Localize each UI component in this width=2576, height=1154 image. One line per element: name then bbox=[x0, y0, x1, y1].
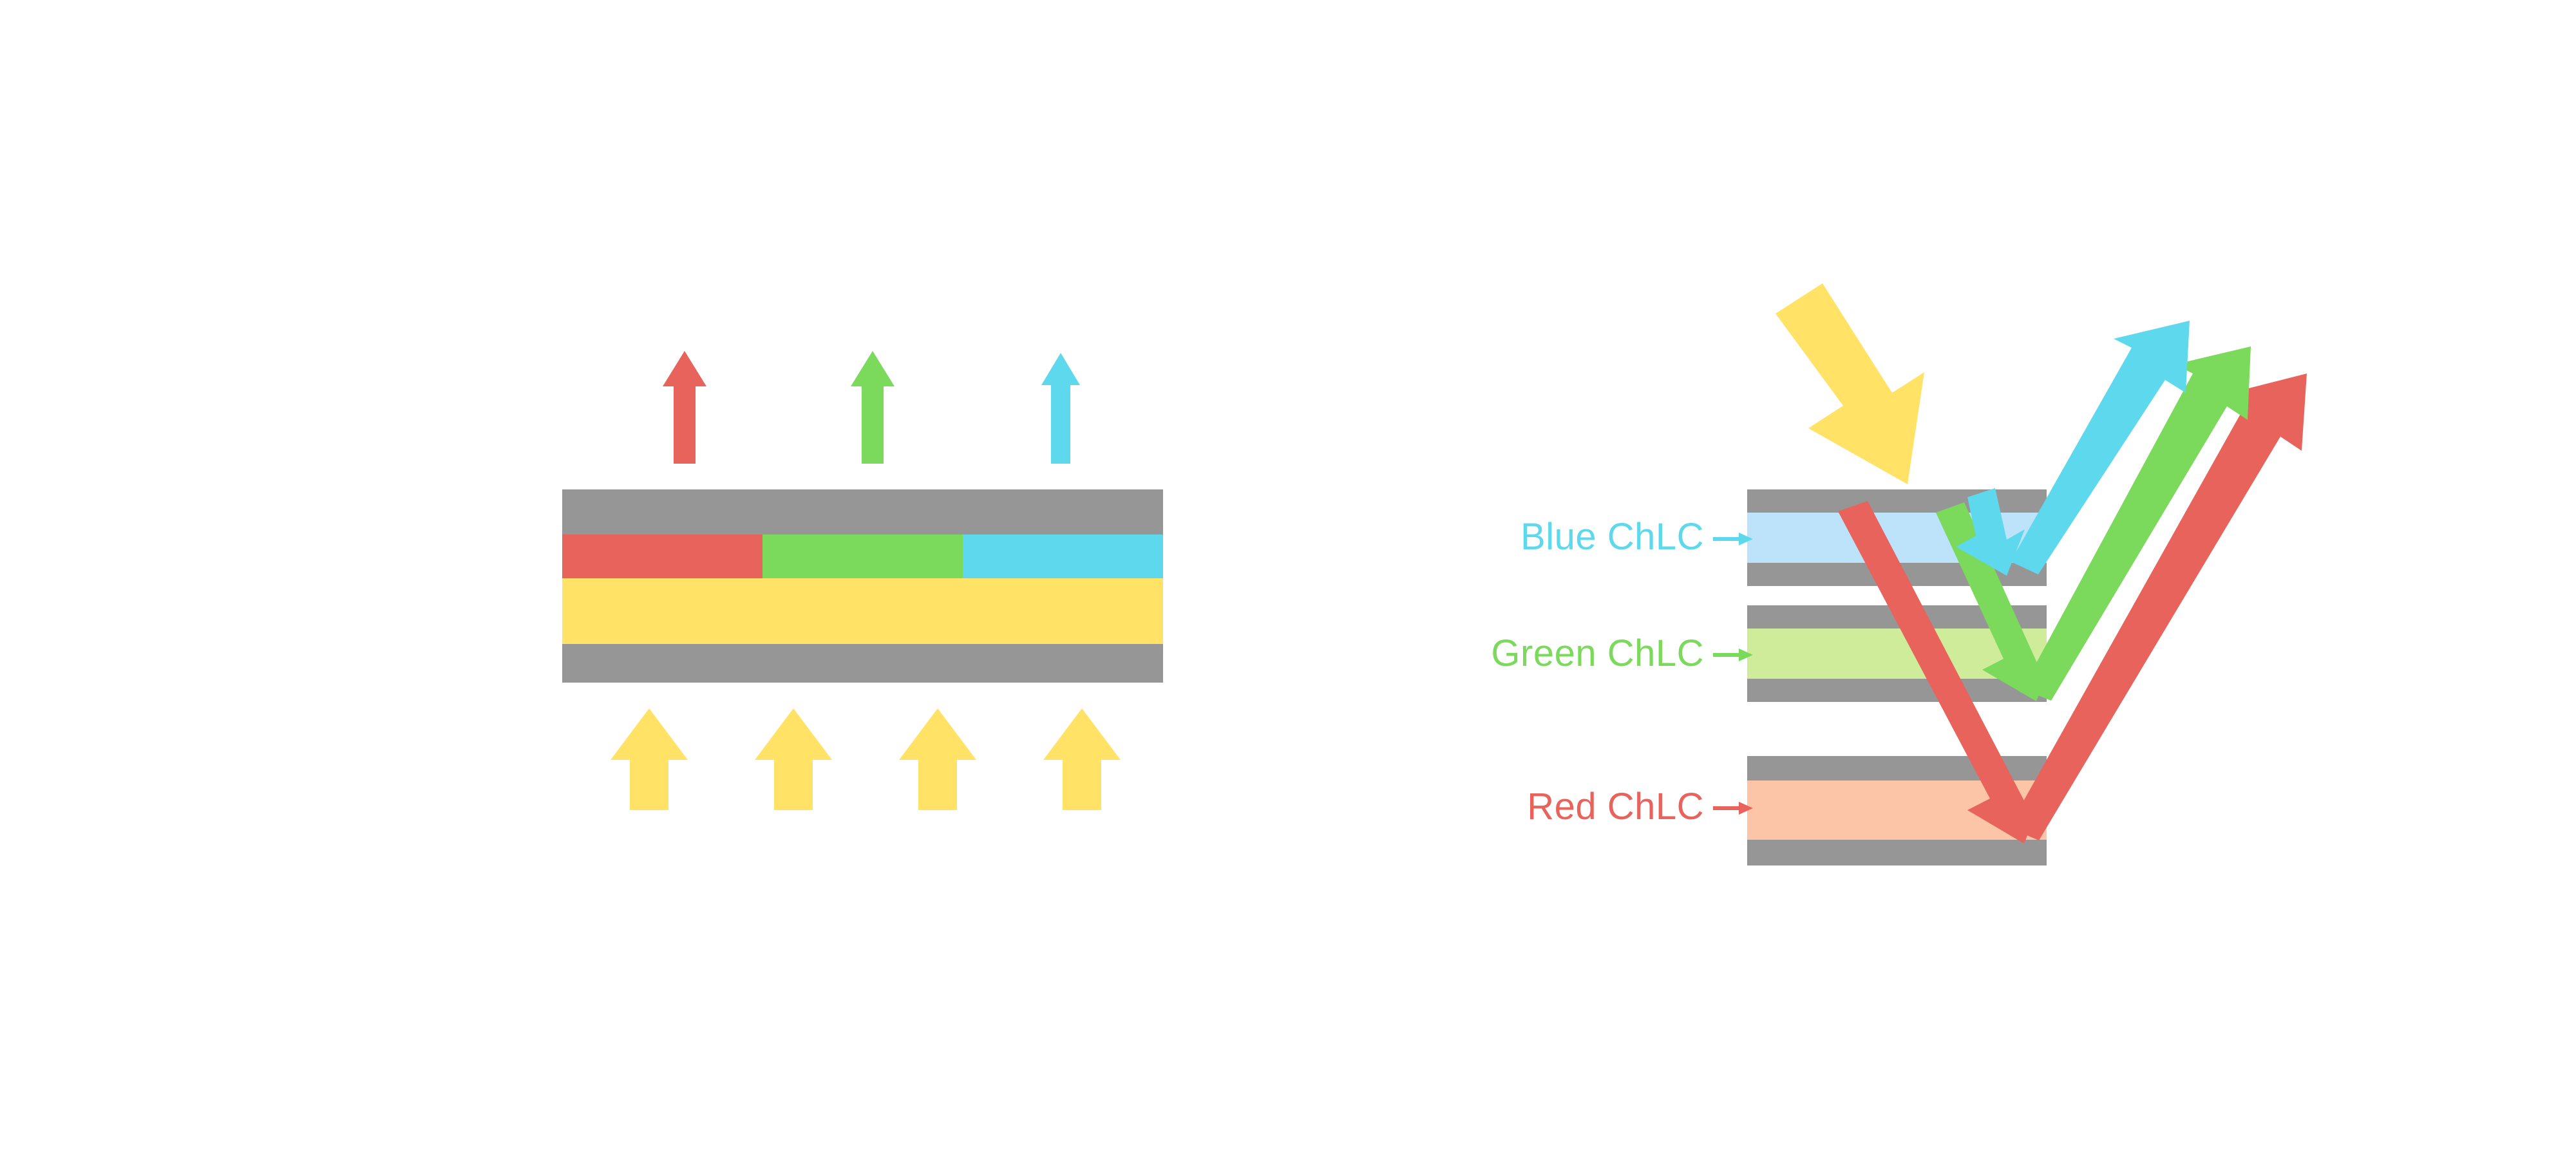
red-label-arrow-icon bbox=[1713, 802, 1753, 815]
backlight-arrow bbox=[611, 708, 688, 810]
left-panel-group bbox=[562, 351, 1163, 810]
green-chlc-label: Green ChLC bbox=[1491, 632, 1704, 674]
diagram-canvas: Blue ChLC Green ChLC Red ChLC bbox=[0, 0, 2576, 1154]
backlight-arrows bbox=[611, 708, 1121, 810]
backlight-arrow bbox=[1043, 708, 1121, 810]
backlight-arrow bbox=[755, 708, 832, 810]
left-emitted-arrows-group bbox=[663, 351, 1080, 464]
left-backlight-layer bbox=[562, 578, 1163, 644]
chlc-diagram-svg: Blue ChLC Green ChLC Red ChLC bbox=[0, 0, 2576, 1154]
left-bottom-electrode bbox=[562, 644, 1163, 683]
left-top-electrode bbox=[562, 489, 1163, 534]
green-label-arrow-icon bbox=[1713, 648, 1753, 661]
cyan-emitted-arrow bbox=[1041, 353, 1080, 464]
blue-cell-top-electrode bbox=[1747, 489, 2047, 513]
red-emitted-arrow bbox=[663, 351, 706, 464]
red-chlc-label: Red ChLC bbox=[1527, 786, 1704, 828]
ambient-light-arrow bbox=[1776, 283, 1924, 484]
green-cell-bottom-electrode bbox=[1747, 679, 2047, 702]
blue-chlc-label: Blue ChLC bbox=[1520, 516, 1704, 558]
green-emitted-arrow bbox=[851, 351, 895, 464]
backlight-arrow bbox=[899, 708, 976, 810]
red-cell-bottom-electrode bbox=[1747, 840, 2047, 865]
green-subpixel bbox=[762, 534, 963, 578]
left-layer-stack bbox=[562, 489, 1163, 683]
blue-label-arrow-icon bbox=[1713, 533, 1753, 545]
right-panel-group: Blue ChLC Green ChLC Red ChLC bbox=[1491, 283, 2307, 865]
blue-subpixel bbox=[963, 534, 1163, 578]
red-subpixel bbox=[562, 534, 762, 578]
